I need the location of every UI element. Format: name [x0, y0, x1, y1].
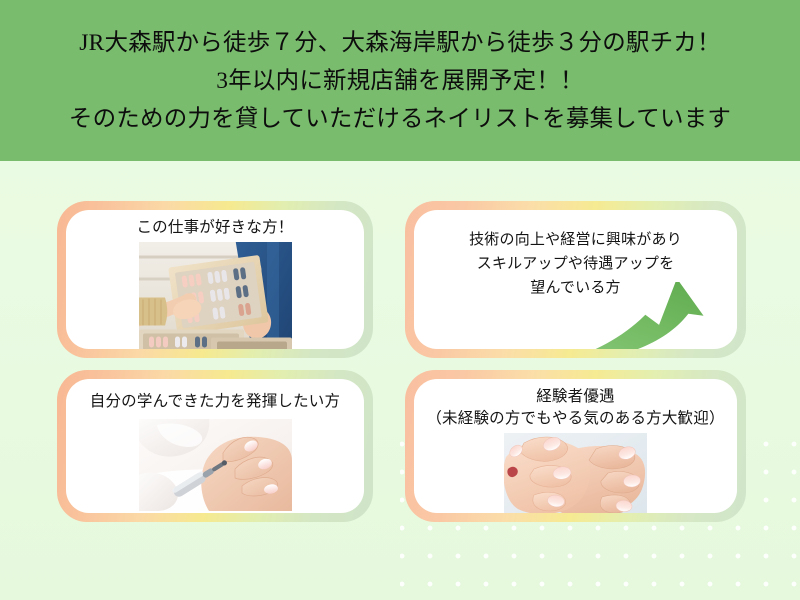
card-inner: この仕事が好きな方！ — [66, 210, 364, 349]
card-experience-preferred: 経験者優遇 （未経験の方でもやる気のある方大歓迎） — [405, 370, 746, 522]
card-4-lines: 経験者優遇 （未経験の方でもやる気のある方大歓迎） — [426, 386, 724, 430]
card-2-line-3: 望んでいる方 — [469, 276, 682, 300]
card-apply-your-skills: 自分の学んできた力を発揮したい方 — [57, 370, 373, 522]
nail-sample-board-photo — [139, 242, 292, 349]
header-banner: JR大森駅から徒歩７分、大森海岸駅から徒歩３分の駅チカ！ 3年以内に新規店舗を展… — [0, 0, 800, 161]
card-2-line-1: 技術の向上や経営に興味があり — [469, 228, 682, 252]
card-this-job-lover: この仕事が好きな方！ — [57, 201, 373, 358]
headline-line-3: そのための力を貸していただけるネイリストを募集しています — [69, 100, 731, 138]
slide-canvas: JR大森駅から徒歩７分、大森海岸駅から徒歩３分の駅チカ！ 3年以内に新規店舗を展… — [0, 0, 800, 600]
card-4-line-1: 経験者優遇 — [426, 386, 724, 408]
card-inner: 自分の学んできた力を発揮したい方 — [66, 379, 364, 513]
headline-line-1: JR大森駅から徒歩７分、大森海岸駅から徒歩３分の駅チカ！ — [79, 24, 720, 62]
nail-filing-treatment-photo — [139, 419, 292, 511]
finished-pink-nails-photo — [504, 433, 647, 513]
card-1-line-1: この仕事が好きな方！ — [136, 217, 293, 239]
headline-line-2: 3年以内に新規店舗を展開予定！！ — [216, 62, 583, 100]
card-skill-up-aspirant: 技術の向上や経営に興味があり スキルアップや待遇アップを 望んでいる方 — [405, 201, 746, 358]
card-2-line-2: スキルアップや待遇アップを — [469, 252, 682, 276]
card-3-line-1: 自分の学んできた力を発揮したい方 — [90, 391, 340, 413]
card-inner: 技術の向上や経営に興味があり スキルアップや待遇アップを 望んでいる方 — [414, 210, 737, 349]
card-2-lines: 技術の向上や経営に興味があり スキルアップや待遇アップを 望んでいる方 — [469, 228, 682, 300]
card-inner: 経験者優遇 （未経験の方でもやる気のある方大歓迎） — [414, 379, 737, 513]
card-4-line-2: （未経験の方でもやる気のある方大歓迎） — [426, 408, 724, 430]
